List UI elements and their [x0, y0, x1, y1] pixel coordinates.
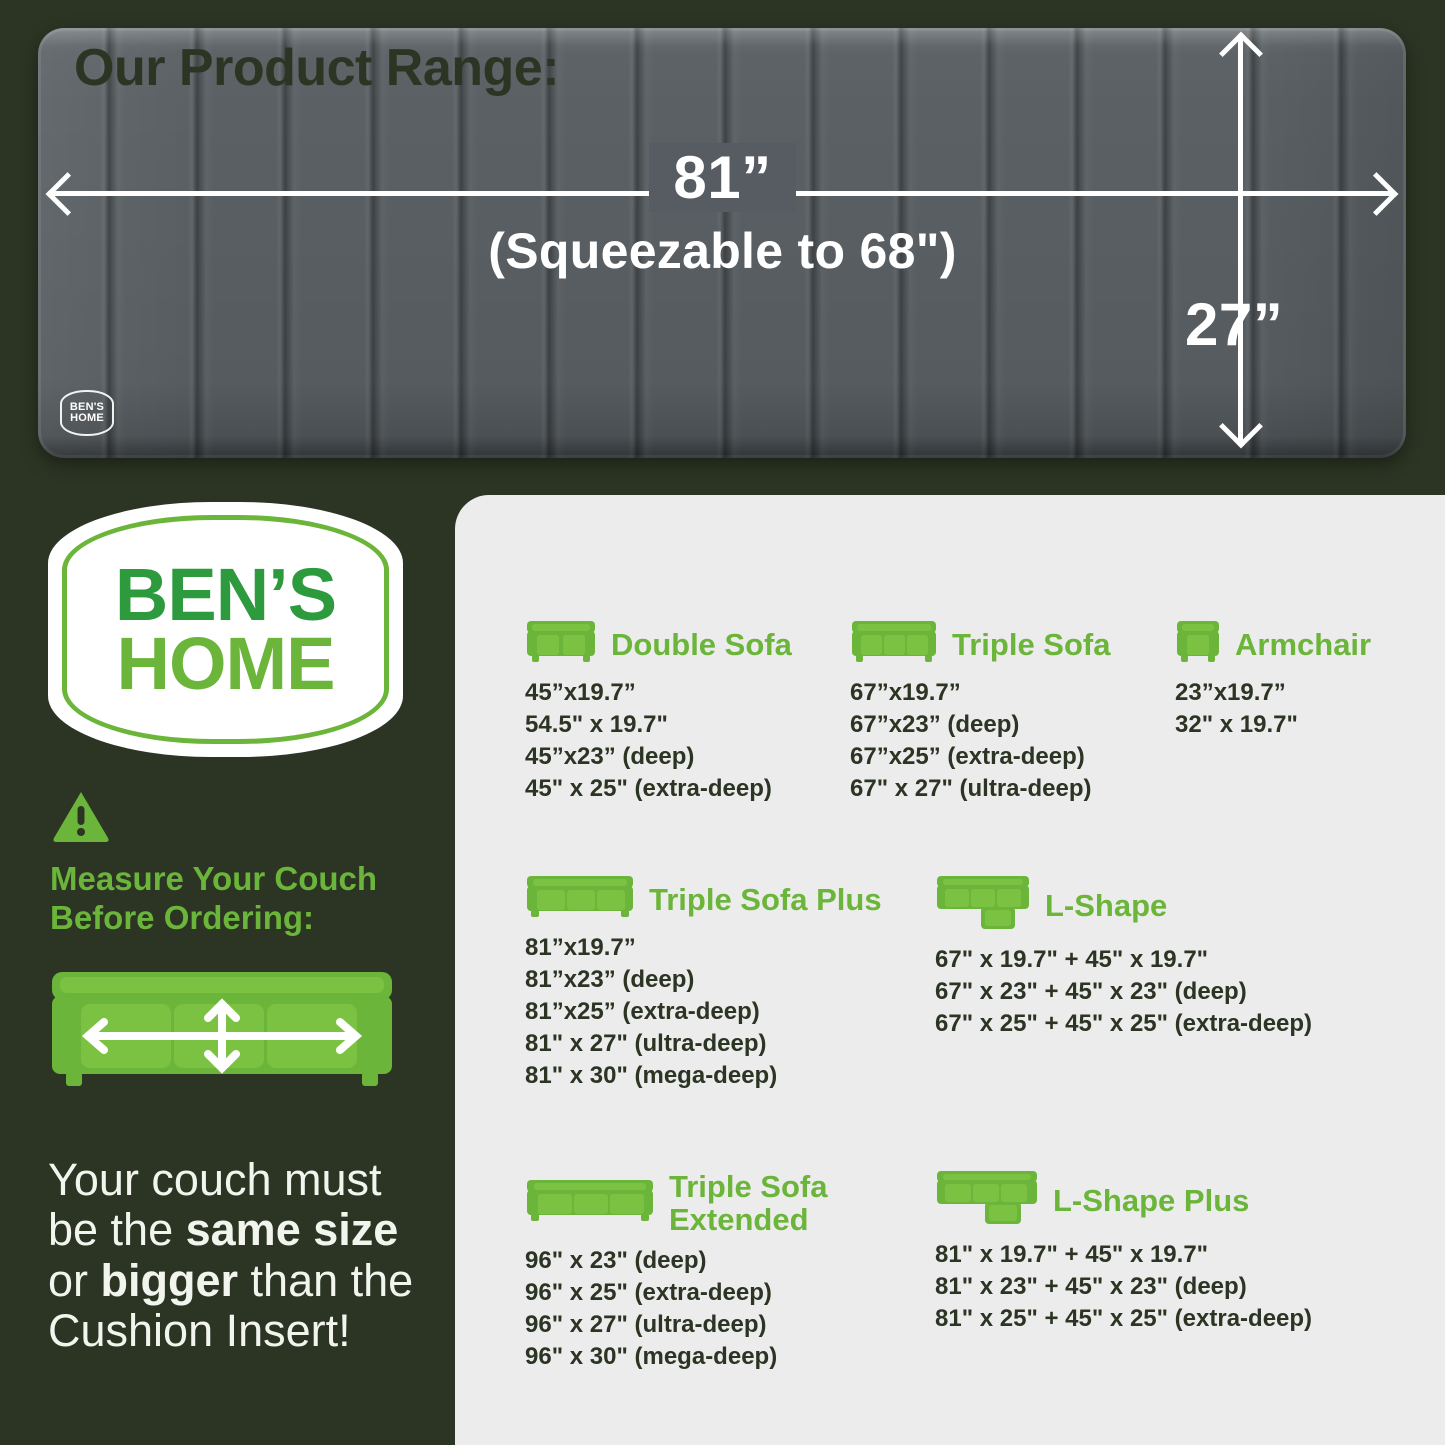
dimension-item: 45”x23” (deep)	[525, 741, 845, 773]
product-header: Triple Sofa Extended	[525, 1170, 925, 1237]
product-name-line1: Triple Sofa	[669, 1170, 827, 1203]
left-sidebar: BEN’S HOME Measure Your Couch Before Ord…	[0, 480, 455, 1445]
product-dimensions: 81”x19.7” 81”x23” (deep) 81”x25” (extra-…	[525, 932, 925, 1092]
dimension-item: 96" x 30" (mega-deep)	[525, 1341, 925, 1373]
product-name: L-Shape Plus	[1053, 1184, 1249, 1217]
dimension-item: 81" x 27" (ultra-deep)	[525, 1028, 925, 1060]
dimension-item: 67”x23” (deep)	[850, 709, 1170, 741]
dimension-item: 96" x 23" (deep)	[525, 1245, 925, 1277]
product-triple-sofa-extended[interactable]: Triple Sofa Extended 96" x 23" (deep) 96…	[525, 1170, 925, 1373]
dimension-item: 81" x 30" (mega-deep)	[525, 1060, 925, 1092]
warning-heading: Measure Your Couch Before Ordering:	[50, 860, 430, 938]
product-name: Triple Sofa Extended	[669, 1170, 827, 1237]
dimension-item: 23”x19.7”	[1175, 677, 1425, 709]
dimension-item: 81”x19.7”	[525, 932, 925, 964]
dimension-item: 45”x19.7”	[525, 677, 845, 709]
product-dimensions: 67" x 19.7" + 45" x 19.7" 67" x 23" + 45…	[935, 944, 1435, 1040]
dimension-item: 81" x 19.7" + 45" x 19.7"	[935, 1239, 1435, 1271]
brand-logo: BEN’S HOME	[48, 502, 403, 757]
double-sofa-icon	[525, 620, 597, 669]
dimension-item: 67”x19.7”	[850, 677, 1170, 709]
product-brand-tag: BEN'S HOME	[60, 390, 114, 436]
l-shape-plus-icon	[935, 1170, 1039, 1231]
product-header: Triple Sofa	[850, 620, 1170, 669]
dimension-item: 45" x 25" (extra-deep)	[525, 773, 845, 805]
l-shape-sofa-icon	[935, 875, 1031, 936]
dimension-item: 81”x23” (deep)	[525, 964, 925, 996]
panel-title: Our Product Range:	[74, 38, 559, 98]
height-label: 27”	[1185, 290, 1283, 359]
size-requirement-note: Your couch must be the same size or bigg…	[48, 1155, 438, 1357]
height-dimension-arrow	[1238, 38, 1243, 442]
dimension-item: 96" x 25" (extra-deep)	[525, 1277, 925, 1309]
triple-sofa-icon	[850, 620, 938, 669]
product-header: L-Shape	[935, 875, 1435, 936]
couch-measurement-diagram	[48, 970, 396, 1090]
mat-bottom-edge	[38, 436, 1406, 458]
product-armchair[interactable]: Armchair 23”x19.7” 32" x 19.7"	[1175, 620, 1425, 741]
logo-bens-text: BEN’S	[115, 561, 336, 629]
product-name-line2: Extended	[669, 1203, 827, 1236]
product-dimensions: 67”x19.7” 67”x23” (deep) 67”x25” (extra-…	[850, 677, 1170, 805]
note-part2: or	[48, 1255, 101, 1306]
product-name: L-Shape	[1045, 889, 1167, 922]
logo-text: BEN’S HOME	[115, 561, 336, 697]
logo-home-text: HOME	[115, 630, 336, 698]
dimension-item: 67" x 27" (ultra-deep)	[850, 773, 1170, 805]
dimension-item: 67" x 19.7" + 45" x 19.7"	[935, 944, 1435, 976]
product-name: Armchair	[1235, 628, 1371, 661]
dimension-item: 67" x 25" + 45" x 25" (extra-deep)	[935, 1008, 1435, 1040]
dimension-item: 81" x 25" + 45" x 25" (extra-deep)	[935, 1303, 1435, 1335]
product-header: Armchair	[1175, 620, 1425, 669]
product-triple-sofa[interactable]: Triple Sofa 67”x19.7” 67”x23” (deep) 67”…	[850, 620, 1170, 805]
product-dimensions: 81" x 19.7" + 45" x 19.7" 81" x 23" + 45…	[935, 1239, 1435, 1335]
product-tag-line2: HOME	[70, 413, 104, 424]
product-name: Triple Sofa	[952, 628, 1110, 661]
warning-heading-line2: Before Ordering:	[50, 899, 430, 938]
triple-sofa-extended-icon	[525, 1179, 655, 1228]
product-header: Double Sofa	[525, 620, 845, 669]
armchair-icon	[1175, 620, 1221, 669]
product-name: Double Sofa	[611, 628, 792, 661]
product-header: Triple Sofa Plus	[525, 875, 925, 924]
triple-sofa-plus-icon	[525, 875, 635, 924]
dimension-item: 32" x 19.7"	[1175, 709, 1425, 741]
note-bold2: bigger	[101, 1255, 239, 1306]
product-l-shape[interactable]: L-Shape 67" x 19.7" + 45" x 19.7" 67" x …	[935, 875, 1435, 1040]
product-dimensions: 23”x19.7” 32" x 19.7"	[1175, 677, 1425, 741]
dimension-item: 67”x25” (extra-deep)	[850, 741, 1170, 773]
product-header: L-Shape Plus	[935, 1170, 1435, 1231]
dimension-item: 54.5" x 19.7"	[525, 709, 845, 741]
dimension-item: 81”x25” (extra-deep)	[525, 996, 925, 1028]
dimension-item: 67" x 23" + 45" x 23" (deep)	[935, 976, 1435, 1008]
dimension-item: 96" x 27" (ultra-deep)	[525, 1309, 925, 1341]
width-dimension-arrow	[52, 191, 1392, 196]
product-dimensions: 45”x19.7” 54.5" x 19.7" 45”x23” (deep) 4…	[525, 677, 845, 805]
product-name: Triple Sofa Plus	[649, 883, 882, 916]
warning-triangle-icon	[52, 790, 110, 842]
dimension-item: 81" x 23" + 45" x 23" (deep)	[935, 1271, 1435, 1303]
product-l-shape-plus[interactable]: L-Shape Plus 81" x 19.7" + 45" x 19.7" 8…	[935, 1170, 1435, 1335]
product-triple-sofa-plus[interactable]: Triple Sofa Plus 81”x19.7” 81”x23” (deep…	[525, 875, 925, 1092]
product-dimensions: 96" x 23" (deep) 96" x 25" (extra-deep) …	[525, 1245, 925, 1373]
product-double-sofa[interactable]: Double Sofa 45”x19.7” 54.5" x 19.7" 45”x…	[525, 620, 845, 805]
warning-heading-line1: Measure Your Couch	[50, 860, 430, 899]
note-bold1: same size	[186, 1204, 399, 1255]
